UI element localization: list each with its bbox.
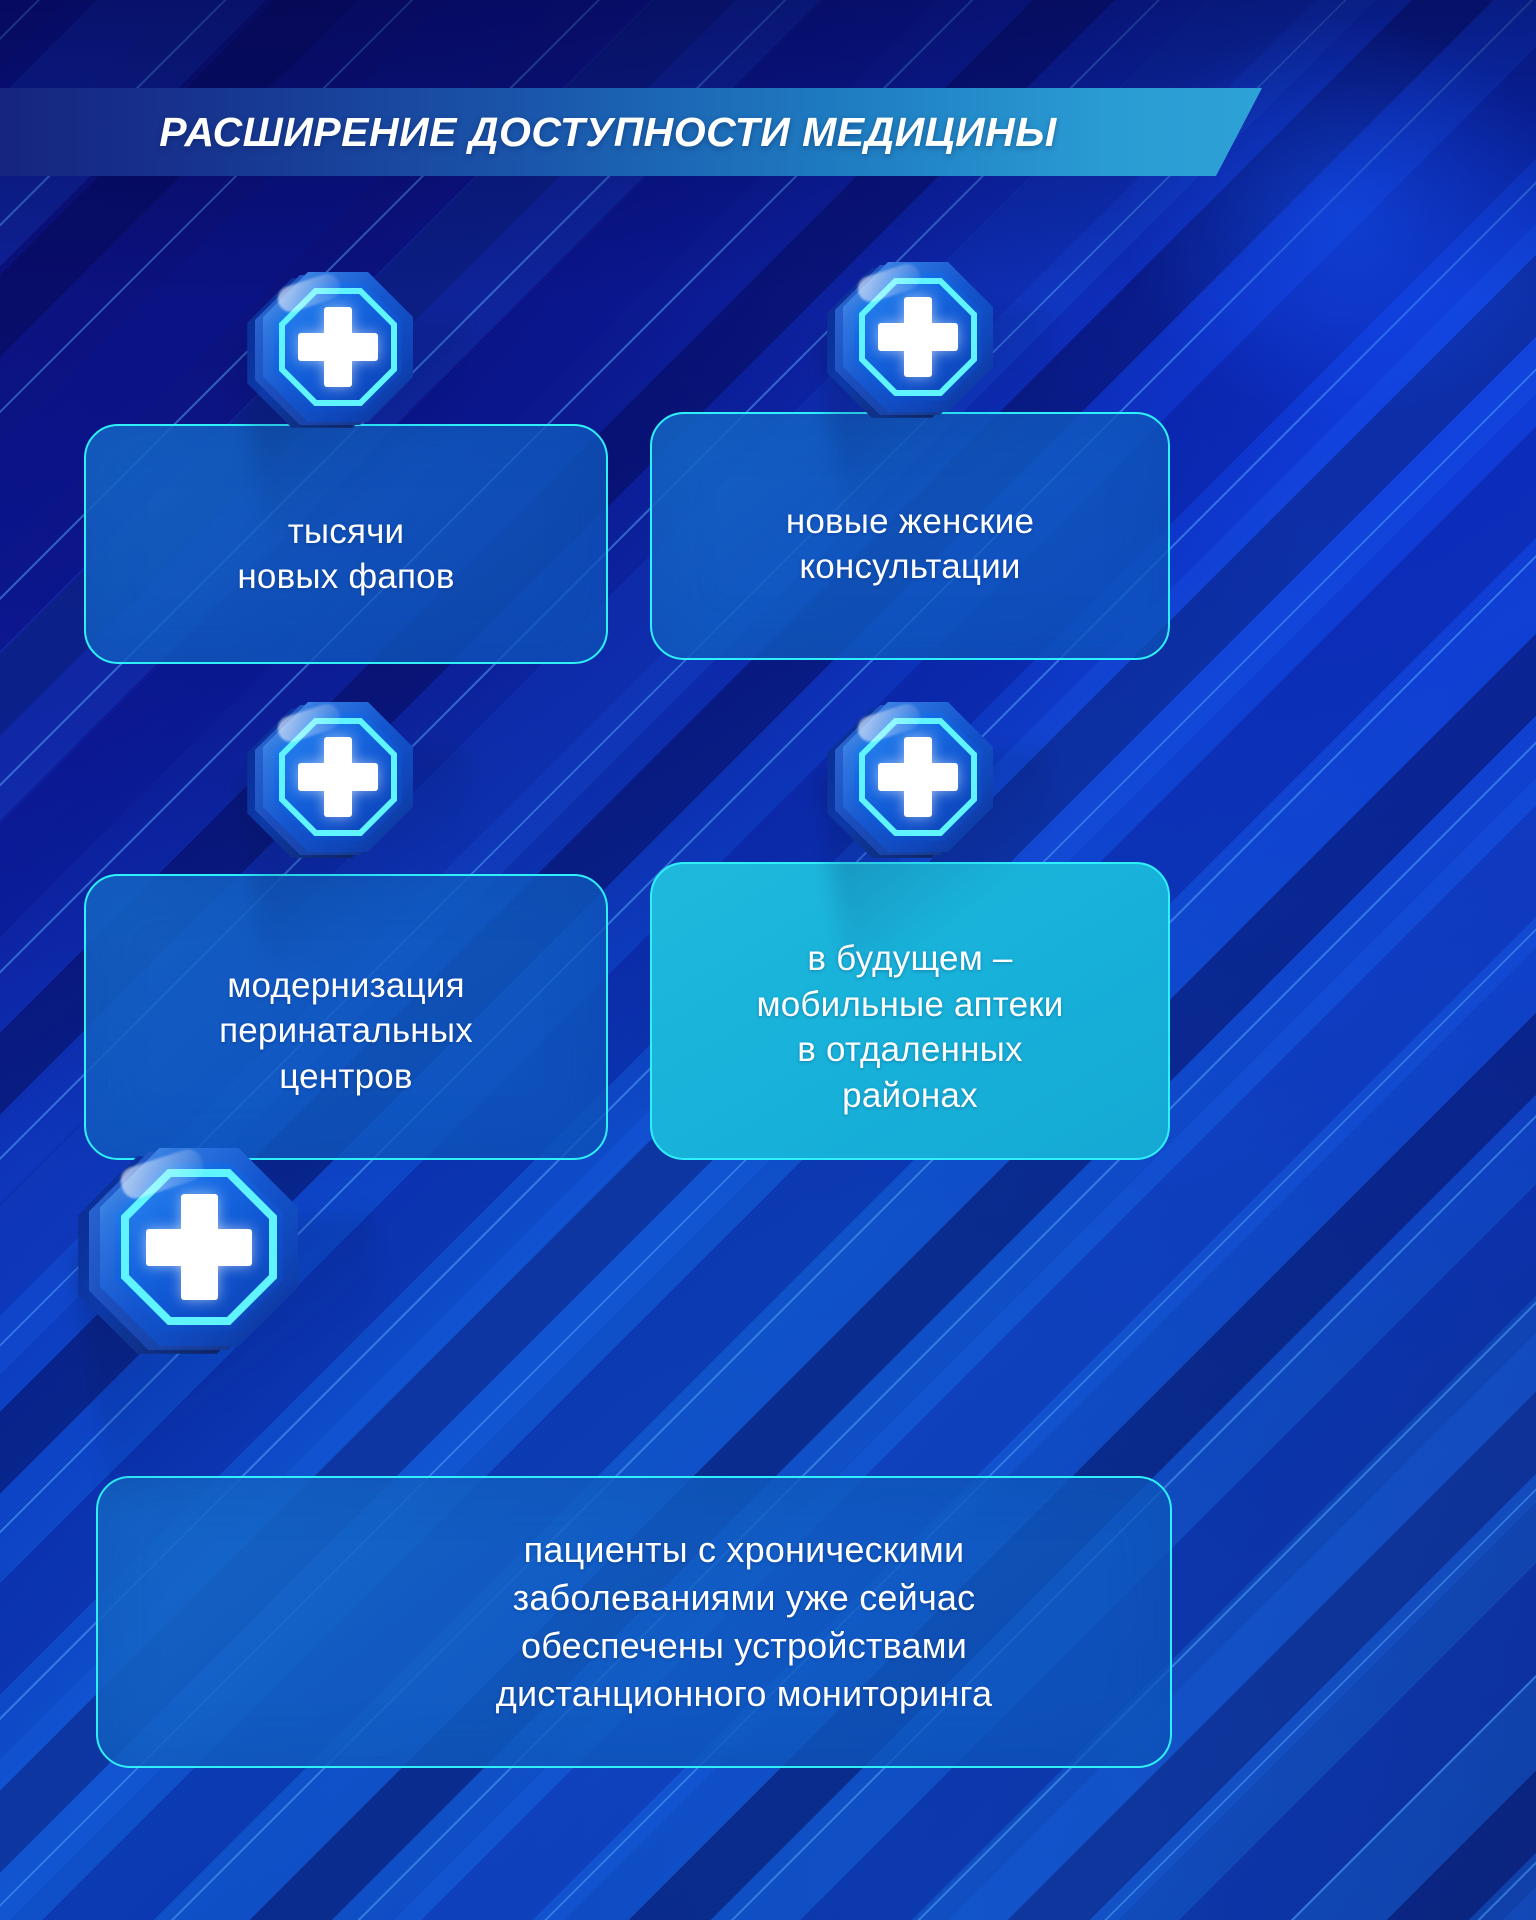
title-banner: РАСШИРЕНИЕ ДОСТУПНОСТИ МЕДИЦИНЫ	[0, 88, 1262, 176]
info-card-remote-monitoring: пациенты с хроническими заболеваниями уж…	[96, 1476, 1172, 1768]
info-card-text: новые женские консультации	[760, 499, 1060, 590]
cross-glyph	[263, 272, 413, 422]
cross-glyph	[843, 702, 993, 852]
info-card-thousands-of-new-fap: тысячи новых фапов	[84, 424, 608, 664]
info-card-perinatal-centres: модернизация перинатальных центров	[84, 874, 608, 1160]
cross-glyph	[843, 262, 993, 412]
medical-cross-badge-icon	[843, 262, 993, 412]
medical-cross-badge-icon	[843, 702, 993, 852]
info-card-text: в будущем – мобильные аптеки в отдаленны…	[730, 936, 1089, 1118]
info-card-mobile-pharmacies: в будущем – мобильные аптеки в отдаленны…	[650, 862, 1170, 1160]
cross-glyph	[100, 1148, 298, 1346]
medical-cross-badge-icon	[263, 702, 413, 852]
medical-cross-badge-icon	[100, 1148, 298, 1346]
info-card-text: модернизация перинатальных центров	[193, 963, 499, 1100]
info-card-text: тысячи новых фапов	[211, 509, 480, 600]
info-card-new-womens-clinics: новые женские консультации	[650, 412, 1170, 660]
medical-cross-badge-icon	[263, 272, 413, 422]
infographic-poster: РАСШИРЕНИЕ ДОСТУПНОСТИ МЕДИЦИНЫ тысячи н…	[0, 0, 1536, 1920]
info-card-text: пациенты с хроническими заболеваниями уж…	[246, 1526, 1022, 1718]
cross-glyph	[263, 702, 413, 852]
page-title: РАСШИРЕНИЕ ДОСТУПНОСТИ МЕДИЦИНЫ	[0, 109, 1262, 156]
